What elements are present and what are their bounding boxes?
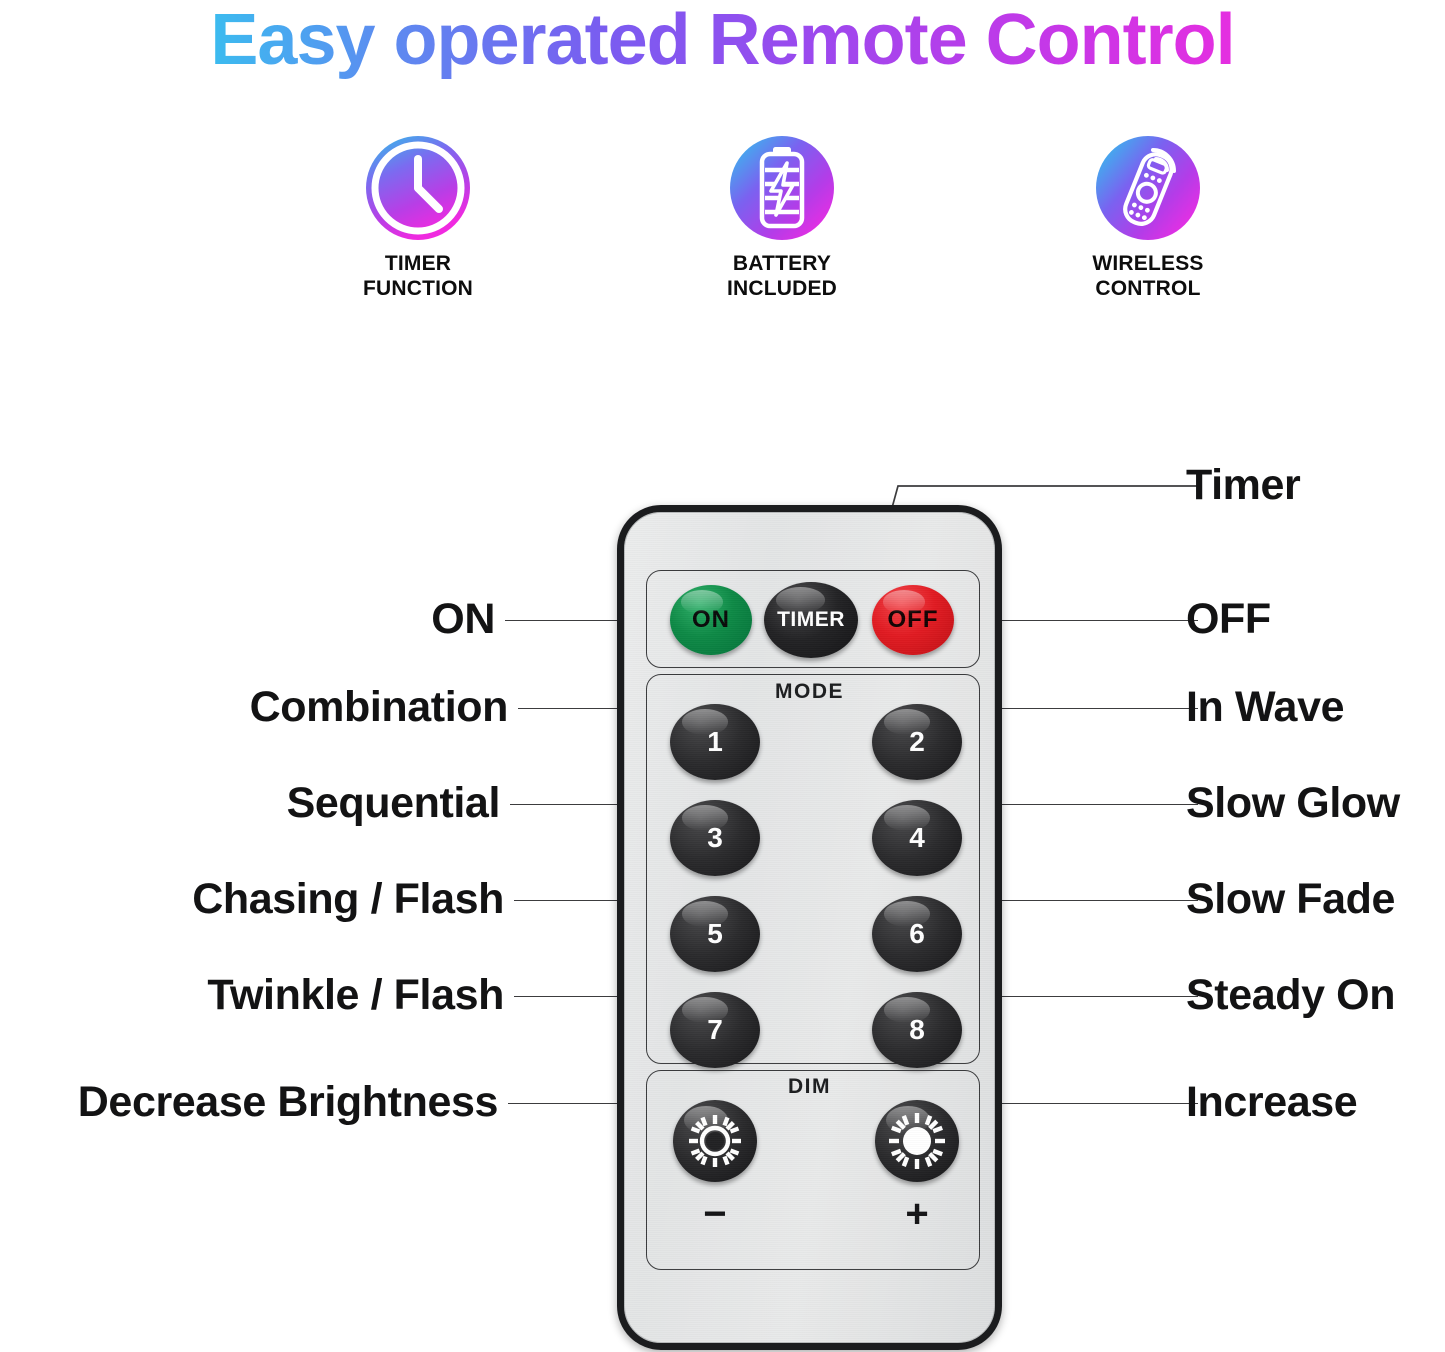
feature-battery-included: BATTERY INCLUDED xyxy=(632,133,932,301)
callout-decrease-brightness: Decrease Brightness xyxy=(0,1081,498,1124)
feature-label-line1: WIRELESS xyxy=(1092,252,1203,275)
feature-timer-function: TIMER FUNCTION xyxy=(268,133,568,301)
dim-increase-sign: + xyxy=(887,1194,947,1234)
callout-in-wave: In Wave xyxy=(1186,686,1344,729)
feature-label-line2: INCLUDED xyxy=(727,277,837,300)
mode-button-1[interactable]: 1 xyxy=(670,704,760,780)
callout-slow-glow: Slow Glow xyxy=(1186,782,1400,825)
remote-control-body: ON TIMER OFF MODE 1 2 3 4 5 6 7 8 DIM xyxy=(617,505,1002,1350)
callout-slow-fade: Slow Fade xyxy=(1186,878,1395,921)
mode-button-7[interactable]: 7 xyxy=(670,992,760,1068)
sun-small-icon xyxy=(685,1111,745,1171)
mode-button-2[interactable]: 2 xyxy=(872,704,962,780)
callout-sequential: Sequential xyxy=(0,782,500,825)
feature-label-line2: FUNCTION xyxy=(363,277,473,300)
callout-increase: Increase xyxy=(1186,1081,1357,1124)
clock-icon xyxy=(268,133,568,243)
feature-label-timer: TIMER FUNCTION xyxy=(268,251,568,301)
feature-label-battery: BATTERY INCLUDED xyxy=(632,251,932,301)
off-button[interactable]: OFF xyxy=(872,585,954,655)
mode-button-8[interactable]: 8 xyxy=(872,992,962,1068)
callout-timer: Timer xyxy=(1186,464,1300,507)
battery-icon xyxy=(632,133,932,243)
callout-twinkle-flash: Twinkle / Flash xyxy=(0,974,504,1017)
dim-increase-button[interactable] xyxy=(875,1100,959,1182)
dim-group-label: DIM xyxy=(624,1075,995,1099)
dim-decrease-button[interactable] xyxy=(673,1100,757,1182)
remote-signal-icon xyxy=(998,133,1298,243)
dim-decrease-sign: − xyxy=(685,1194,745,1234)
mode-button-5[interactable]: 5 xyxy=(670,896,760,972)
page-title: Easy operated Remote Control xyxy=(0,0,1445,82)
callout-on: ON xyxy=(0,598,495,641)
mode-group-label: MODE xyxy=(624,680,995,704)
feature-badges: TIMER FUNCTION xyxy=(0,133,1445,318)
mode-button-4[interactable]: 4 xyxy=(872,800,962,876)
feature-label-line1: BATTERY xyxy=(733,252,831,275)
mode-button-3[interactable]: 3 xyxy=(670,800,760,876)
on-button[interactable]: ON xyxy=(670,585,752,655)
timer-button[interactable]: TIMER xyxy=(764,582,858,658)
callout-combination: Combination xyxy=(0,686,508,729)
feature-wireless-control: WIRELESS CONTROL xyxy=(998,133,1298,301)
feature-label-line1: TIMER xyxy=(385,252,451,275)
callout-off: OFF xyxy=(1186,598,1271,641)
callout-steady-on: Steady On xyxy=(1186,974,1395,1017)
feature-label-line2: CONTROL xyxy=(1095,277,1200,300)
feature-label-wireless: WIRELESS CONTROL xyxy=(998,251,1298,301)
remote-diagram: ON TIMER OFF MODE 1 2 3 4 5 6 7 8 DIM xyxy=(0,420,1445,1352)
mode-button-6[interactable]: 6 xyxy=(872,896,962,972)
sun-large-icon xyxy=(887,1111,947,1171)
callout-chasing-flash: Chasing / Flash xyxy=(0,878,504,921)
